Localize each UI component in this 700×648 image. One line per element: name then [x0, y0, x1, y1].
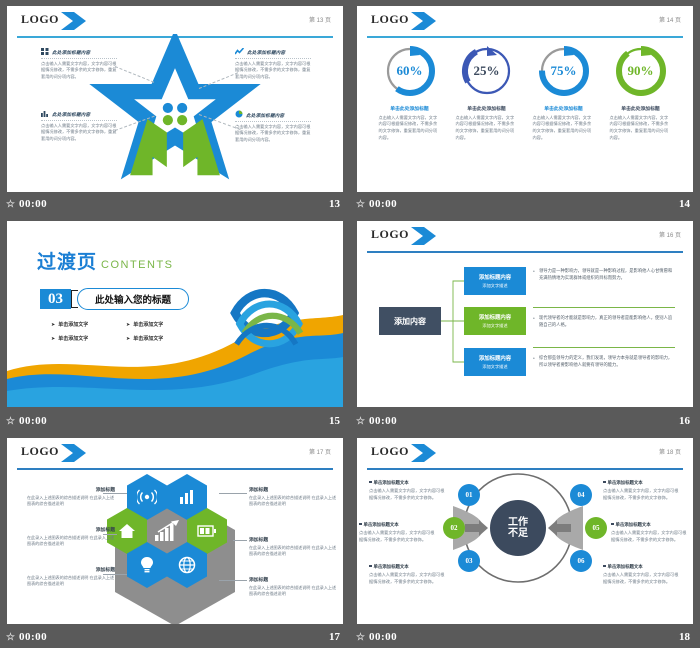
square-bullet-icon: [603, 565, 606, 568]
star-label-2-body: 点击输入人需要文字内容，文字内容可根据情况修改，不需多余的文字修饰，重复套用的词…: [235, 58, 311, 81]
circle-label-body: 点击输入人需要文字内容，文字内容可根据情况修改，不需多余的文字修饰。: [603, 572, 681, 585]
section-number: 03: [40, 289, 71, 309]
node-02[interactable]: 02: [443, 517, 465, 539]
divider-2: [533, 347, 675, 348]
slide-13[interactable]: LOGO 第 13 页: [7, 6, 343, 192]
slide-cell-13[interactable]: LOGO 第 13 页: [0, 0, 350, 215]
star-icon: ☆: [356, 199, 365, 210]
chevron-logo-icon: [411, 442, 441, 464]
hex-label-title: 添加标题: [27, 526, 115, 533]
bullet-dot-icon: •: [533, 355, 535, 363]
donut-chart-2: 25%: [460, 44, 514, 98]
status-bar-16: ☆ 00:00 16: [350, 410, 700, 432]
arrow-icon: ➤: [51, 322, 55, 328]
star-infographic: 此处添加标题内容 点击输入人需要文字内容，文字内容可根据情况修改，不需多余的文字…: [7, 6, 343, 192]
home-icon: [118, 523, 136, 539]
donut-value-2: 25%: [460, 44, 514, 98]
title-text: 单击添加标题文本: [608, 564, 643, 569]
timer-text: 00:00: [19, 631, 47, 643]
status-bar-17: ☆ 00:00 17: [0, 626, 350, 648]
donut-title-2: 单击此处添加标题: [467, 105, 505, 112]
tree-root-node[interactable]: 添加内容: [379, 307, 441, 335]
hex-label-body: 在此录入上述图表的综合描述说明 在此录入上述图表的综合描述说明: [27, 495, 115, 508]
slide-cell-15[interactable]: 过渡页CONTENTS 03 此处输入您的标题 ➤单击添加文字 ➤单击添加文字 …: [0, 215, 350, 432]
leader-line: [103, 534, 117, 535]
donut-value-3: 75%: [537, 44, 591, 98]
wifi-icon: [137, 489, 157, 505]
donut-title-4: 单击此处添加标题: [621, 105, 659, 112]
hex-label-title: 添加标题: [27, 486, 115, 493]
leader-line: [219, 493, 247, 494]
donut-item-3[interactable]: 75% 单击此处添加标题 点击输入人需要文字内容，文字内容可根据情况修改，不需多…: [525, 44, 602, 141]
bullet-item-4[interactable]: ➤单击添加文字: [126, 335, 201, 342]
slide-cell-16[interactable]: LOGO 第 16 页 添加内容 添加标题内容 添加文字描述 添加标题内容: [350, 215, 700, 432]
slide-header: LOGO 第 17 页: [7, 438, 343, 468]
logo-text: LOGO: [371, 444, 409, 459]
branch-sub: 添加文字描述: [482, 323, 507, 329]
star-label-2[interactable]: 此处添加标题内容 点击输入人需要文字内容，文字内容可根据情况修改，不需多余的文字…: [235, 48, 311, 80]
circle-label-4[interactable]: 单击添加标题文本 点击输入人需要文字内容，文字内容可根据情况修改，不需多余的文字…: [603, 480, 681, 501]
bullet-text: 单击添加文字: [58, 322, 88, 328]
star-icon: ☆: [356, 416, 365, 427]
arrow-icon: ➤: [126, 322, 130, 328]
hex-label-title: 添加标题: [249, 576, 337, 583]
donut-chart-4: 90%: [614, 44, 668, 98]
circle-label-5[interactable]: 单击添加标题文本 点击输入人需要文字内容，文字内容可根据情况修改，不需多余的文字…: [611, 522, 689, 543]
branch-title: 添加标题内容: [479, 313, 511, 321]
slide-cell-14[interactable]: LOGO 第 14 页 60%: [350, 0, 700, 215]
leader-line: [103, 493, 127, 494]
title-en: CONTENTS: [101, 259, 174, 271]
hex-label-right-1[interactable]: 添加标题 在此录入上述图表的综合描述说明 在此录入上述图表的综合描述说明: [249, 486, 337, 508]
logo-text: LOGO: [21, 444, 59, 459]
status-bar-14: ☆ 00:00 14: [350, 193, 700, 215]
pie-chart-icon: [235, 110, 243, 119]
circle-label-title: 单击添加标题文本: [369, 564, 447, 570]
slide-header: LOGO 第 14 页: [357, 6, 693, 36]
node-05[interactable]: 05: [585, 517, 607, 539]
circle-label-title: 单击添加标题文本: [603, 480, 681, 486]
star-label-3-body: 点击输入人需要文字内容，文字内容可根据情况修改，不需多余的文字修饰，重复套用的词…: [41, 120, 117, 143]
paragraph-text: 综合那些领导力的定义，我们发现，领导力本身就是领导者的影响力，所以领导者要影响他…: [539, 355, 672, 367]
arrow-icon: ➤: [51, 336, 55, 342]
bullet-text: 单击添加文字: [58, 336, 88, 342]
bullet-item-3[interactable]: ➤单击添加文字: [51, 335, 126, 342]
node-06[interactable]: 06: [570, 550, 592, 572]
center-line-1: 工作: [508, 517, 528, 529]
label-text: 此处添加标题内容: [52, 112, 90, 117]
page-number: 13: [329, 198, 340, 210]
donut-item-1[interactable]: 60% 单击此处添加标题 点击输入人需要文字内容，文字内容可根据情况修改，不需多…: [371, 44, 448, 141]
star-label-1[interactable]: 此处添加标题内容 点击输入人需要文字内容，文字内容可根据情况修改，不需多余的文字…: [41, 48, 117, 80]
circle-label-2[interactable]: 单击添加标题文本 点击输入人需要文字内容，文字内容可根据情况修改，不需多余的文字…: [359, 522, 437, 543]
circle-label-1[interactable]: 单击添加标题文本 点击输入人需要文字内容，文字内容可根据情况修改，不需多余的文字…: [369, 480, 447, 501]
hex-label-right-3[interactable]: 添加标题 在此录入上述图表的综合描述说明 在此录入上述图表的综合描述说明: [249, 576, 337, 598]
circle-label-title: 单击添加标题文本: [603, 564, 681, 570]
status-bar-15: ☆ 00:00 15: [0, 410, 350, 432]
star-label-4-title: 此处添加标题内容: [235, 110, 311, 119]
hexagon-cluster: [115, 472, 235, 618]
hex-label-body: 在此录入上述图表的综合描述说明 在此录入上述图表的综合描述说明: [249, 585, 337, 598]
circle-label-title: 单击添加标题文本: [611, 522, 689, 528]
hex-label-body: 在此录入上述图表的综合描述说明 在此录入上述图表的综合描述说明: [249, 495, 337, 508]
title-text: 单击添加标题文本: [608, 480, 643, 485]
chevron-logo-icon: [411, 10, 441, 32]
title-text: 单击添加标题文本: [616, 522, 651, 527]
donut-body-2: 点击输入人需要文字内容，文字内容可根据情况修改，不需多余的文字修饰，重复套用的词…: [456, 115, 518, 142]
node-04[interactable]: 04: [570, 484, 592, 506]
hex-label-left-2[interactable]: 添加标题 在此录入上述图表的综合描述说明 在此录入上述图表的综合描述说明: [27, 526, 115, 548]
donut-body-3: 点击输入人需要文字内容，文字内容可根据情况修改，不需多余的文字修饰，重复套用的词…: [533, 115, 595, 142]
node-01[interactable]: 01: [458, 484, 480, 506]
node-03[interactable]: 03: [458, 550, 480, 572]
hex-label-left-1[interactable]: 添加标题 在此录入上述图表的综合描述说明 在此录入上述图表的综合描述说明: [27, 486, 115, 508]
timer-text: 00:00: [19, 415, 47, 427]
star-label-4[interactable]: 此处添加标题内容 点击输入人需要文字内容，文字内容可根据情况修改，不需多余的文字…: [235, 110, 311, 143]
star-icon: ☆: [356, 632, 365, 643]
center-line-2: 不足: [508, 528, 528, 540]
label-text: 此处添加标题内容: [247, 50, 285, 55]
page-number: 14: [679, 198, 690, 210]
transition-title: 过渡页CONTENTS: [37, 247, 174, 274]
section-headline: 此处输入您的标题: [77, 288, 189, 310]
hex-label-left-3[interactable]: 添加标题 在此录入上述图表的综合描述说明 在此录入上述图表的综合描述说明: [27, 566, 115, 588]
chevron-logo-icon: [61, 442, 91, 464]
tree-branch-3[interactable]: 添加标题内容 添加文字描述: [464, 348, 526, 376]
bullet-list: ➤单击添加文字 ➤单击添加文字 ➤单击添加文字 ➤单击添加文字: [51, 321, 201, 349]
star-label-1-title: 此处添加标题内容: [41, 48, 117, 56]
tree-branch-2[interactable]: 添加标题内容 添加文字描述: [464, 307, 526, 335]
page-number: 15: [329, 415, 340, 427]
circle-label-body: 点击输入人需要文字内容，文字内容可根据情况修改，不需多余的文字修饰。: [369, 488, 447, 501]
branch-sub: 添加文字描述: [482, 364, 507, 370]
bullet-dot-icon: •: [533, 268, 535, 276]
circle-label-body: 点击输入人需要文字内容，文字内容可根据情况修改，不需多余的文字修饰。: [359, 530, 437, 543]
donut-item-2[interactable]: 25% 单击此处添加标题 点击输入人需要文字内容，文字内容可根据情况修改，不需多…: [448, 44, 525, 141]
square-bullet-icon: [603, 481, 606, 484]
circle-label-3[interactable]: 单击添加标题文本 点击输入人需要文字内容，文字内容可根据情况修改，不需多余的文字…: [369, 564, 447, 585]
circle-label-title: 单击添加标题文本: [359, 522, 437, 528]
hex-label-title: 添加标题: [27, 566, 115, 573]
title-text: 单击添加标题文本: [374, 564, 409, 569]
hex-label-body: 在此录入上述图表的综合描述说明 在此录入上述图表的综合描述说明: [27, 575, 115, 588]
circle-label-6[interactable]: 单击添加标题文本 点击输入人需要文字内容，文字内容可根据情况修改，不需多余的文字…: [603, 564, 681, 585]
star-icon: ☆: [6, 199, 15, 210]
hex-label-body: 在此录入上述图表的综合描述说明 在此录入上述图表的综合描述说明: [27, 535, 115, 548]
status-bar-18: ☆ 00:00 18: [350, 626, 700, 648]
circle-label-body: 点击输入人需要文字内容，文字内容可根据情况修改，不需多余的文字修饰。: [369, 572, 447, 585]
tree-paragraph-1: • 领导力是一种影响力，领导就是一种影响过程，是影响他人心甘情愿和充满热情地为实…: [539, 267, 675, 281]
branch-title: 添加标题内容: [479, 273, 511, 281]
paragraph-text: 现代领导者的才能就是影响力，真正的领导者是能影响他人，使别人追随自己的人格。: [539, 315, 672, 327]
star-icon: ☆: [6, 632, 15, 643]
header-rule: [367, 36, 683, 38]
page-indicator: 第 18 页: [659, 447, 681, 456]
globe-icon: [178, 556, 196, 574]
tree-paragraph-3: • 综合那些领导力的定义，我们发现，领导力本身就是领导者的影响力，所以领导者要影…: [539, 354, 675, 368]
circle-label-body: 点击输入人需要文字内容，文字内容可根据情况修改，不需多余的文字修饰。: [603, 488, 681, 501]
title-text: 单击添加标题文本: [374, 480, 409, 485]
label-text: 此处添加标题内容: [52, 50, 90, 55]
circle-label-title: 单击添加标题文本: [369, 480, 447, 486]
donut-chart-3: 75%: [537, 44, 591, 98]
star-icon: ☆: [6, 416, 15, 427]
donut-value-4: 90%: [614, 44, 668, 98]
tree-branch-1[interactable]: 添加标题内容 添加文字描述: [464, 267, 526, 295]
paragraph-text: 领导力是一种影响力，领导就是一种影响过程，是影响他人心甘情愿和充满热情地为实现群…: [539, 268, 672, 280]
battery-icon: [197, 525, 217, 537]
logo-text: LOGO: [371, 12, 409, 27]
bullet-item-1[interactable]: ➤单击添加文字: [51, 321, 126, 328]
bar-chart-icon: [179, 490, 195, 504]
slide-cell-17[interactable]: LOGO 第 17 页: [0, 432, 350, 648]
square-bullet-icon: [611, 523, 614, 526]
slide-cell-18[interactable]: LOGO 第 18 页 工作 不足 01: [350, 432, 700, 648]
donut-body-1: 点击输入人需要文字内容，文字内容可根据情况修改，不需多余的文字修饰，重复套用的词…: [379, 115, 441, 142]
star-label-2-title: 此处添加标题内容: [235, 48, 311, 56]
tree-paragraph-2: • 现代领导者的才能就是影响力，真正的领导者是能影响他人，使别人追随自己的人格。: [539, 314, 675, 328]
growth-arrow-icon: [154, 520, 180, 542]
timer-text: 00:00: [19, 198, 47, 210]
star-label-4-body: 点击输入人需要文字内容，文字内容可根据情况修改，不需多余的文字修饰，重复套用的词…: [235, 121, 311, 144]
leader-line: [219, 580, 247, 581]
donut-chart-row: 60% 单击此处添加标题 点击输入人需要文字内容，文字内容可根据情况修改，不需多…: [371, 44, 679, 141]
donut-item-4[interactable]: 90% 单击此处添加标题 点击输入人需要文字内容，文字内容可根据情况修改，不需多…: [602, 44, 679, 141]
bullet-dot-icon: •: [533, 315, 535, 323]
donut-chart-1: 60%: [383, 44, 437, 98]
divider-1: [533, 307, 675, 308]
donut-title-3: 单击此处添加标题: [544, 105, 582, 112]
page-indicator: 第 14 页: [659, 15, 681, 24]
branch-sub: 添加文字描述: [482, 283, 507, 289]
slide-header: LOGO 第 18 页: [357, 438, 693, 468]
square-bullet-icon: [369, 481, 372, 484]
bulb-icon: [140, 556, 154, 574]
line-chart-icon: [235, 48, 244, 56]
hex-label-title: 添加标题: [249, 486, 337, 493]
donut-body-4: 点击输入人需要文字内容，文字内容可根据情况修改，不需多余的文字修饰，重复套用的词…: [610, 115, 672, 142]
slide-17[interactable]: LOGO 第 17 页: [7, 438, 343, 624]
star-label-3[interactable]: 此处添加标题内容 点击输入人需要文字内容，文字内容可根据情况修改，不需多余的文字…: [41, 110, 117, 142]
page-number: 16: [679, 415, 690, 427]
hex-label-body: 在此录入上述图表的综合描述说明 在此录入上述图表的综合描述说明: [249, 545, 337, 558]
branch-title: 添加标题内容: [479, 354, 511, 362]
donut-title-1: 单击此处添加标题: [390, 105, 428, 112]
circle-label-body: 点击输入人需要文字内容，文字内容可根据情况修改，不需多余的文字修饰。: [611, 530, 689, 543]
grid-icon: [41, 48, 49, 56]
star-label-1-body: 点击输入人需要文字内容，文字内容可根据情况修改，不需多余的文字修饰，重复套用的词…: [41, 58, 117, 81]
timer-text: 00:00: [369, 631, 397, 643]
timer-text: 00:00: [369, 198, 397, 210]
center-circle[interactable]: 工作 不足: [490, 500, 546, 556]
page-number: 17: [329, 631, 340, 643]
square-bullet-icon: [369, 565, 372, 568]
bullet-text: 单击添加文字: [133, 322, 163, 328]
slide-16[interactable]: LOGO 第 16 页 添加内容 添加标题内容 添加文字描述 添加标题内容: [357, 221, 693, 407]
leader-line: [103, 574, 127, 575]
page-number: 18: [679, 631, 690, 643]
slide-15[interactable]: 过渡页CONTENTS 03 此处输入您的标题 ➤单击添加文字 ➤单击添加文字 …: [7, 221, 343, 407]
hex-label-right-2[interactable]: 添加标题 在此录入上述图表的综合描述说明 在此录入上述图表的综合描述说明: [249, 536, 337, 558]
donut-value-1: 60%: [383, 44, 437, 98]
slide-14[interactable]: LOGO 第 14 页 60%: [357, 6, 693, 192]
title-text: 单击添加标题文本: [364, 522, 399, 527]
slide-thumbnail-grid: LOGO 第 13 页: [0, 0, 700, 648]
bullet-item-2[interactable]: ➤单击添加文字: [126, 321, 201, 328]
status-bar-13: ☆ 00:00 13: [0, 193, 350, 215]
label-text: 此处添加标题内容: [246, 113, 284, 118]
title-cn: 过渡页: [37, 251, 97, 273]
slide-18[interactable]: LOGO 第 18 页 工作 不足 01: [357, 438, 693, 624]
bar-chart-icon: [41, 110, 49, 118]
timer-text: 00:00: [369, 415, 397, 427]
hex-label-title: 添加标题: [249, 536, 337, 543]
arrow-icon: ➤: [126, 336, 130, 342]
square-bullet-icon: [359, 523, 362, 526]
bullet-text: 单击添加文字: [133, 336, 163, 342]
page-indicator: 第 17 页: [309, 447, 331, 456]
star-label-3-title: 此处添加标题内容: [41, 110, 117, 118]
leader-line: [233, 540, 247, 541]
